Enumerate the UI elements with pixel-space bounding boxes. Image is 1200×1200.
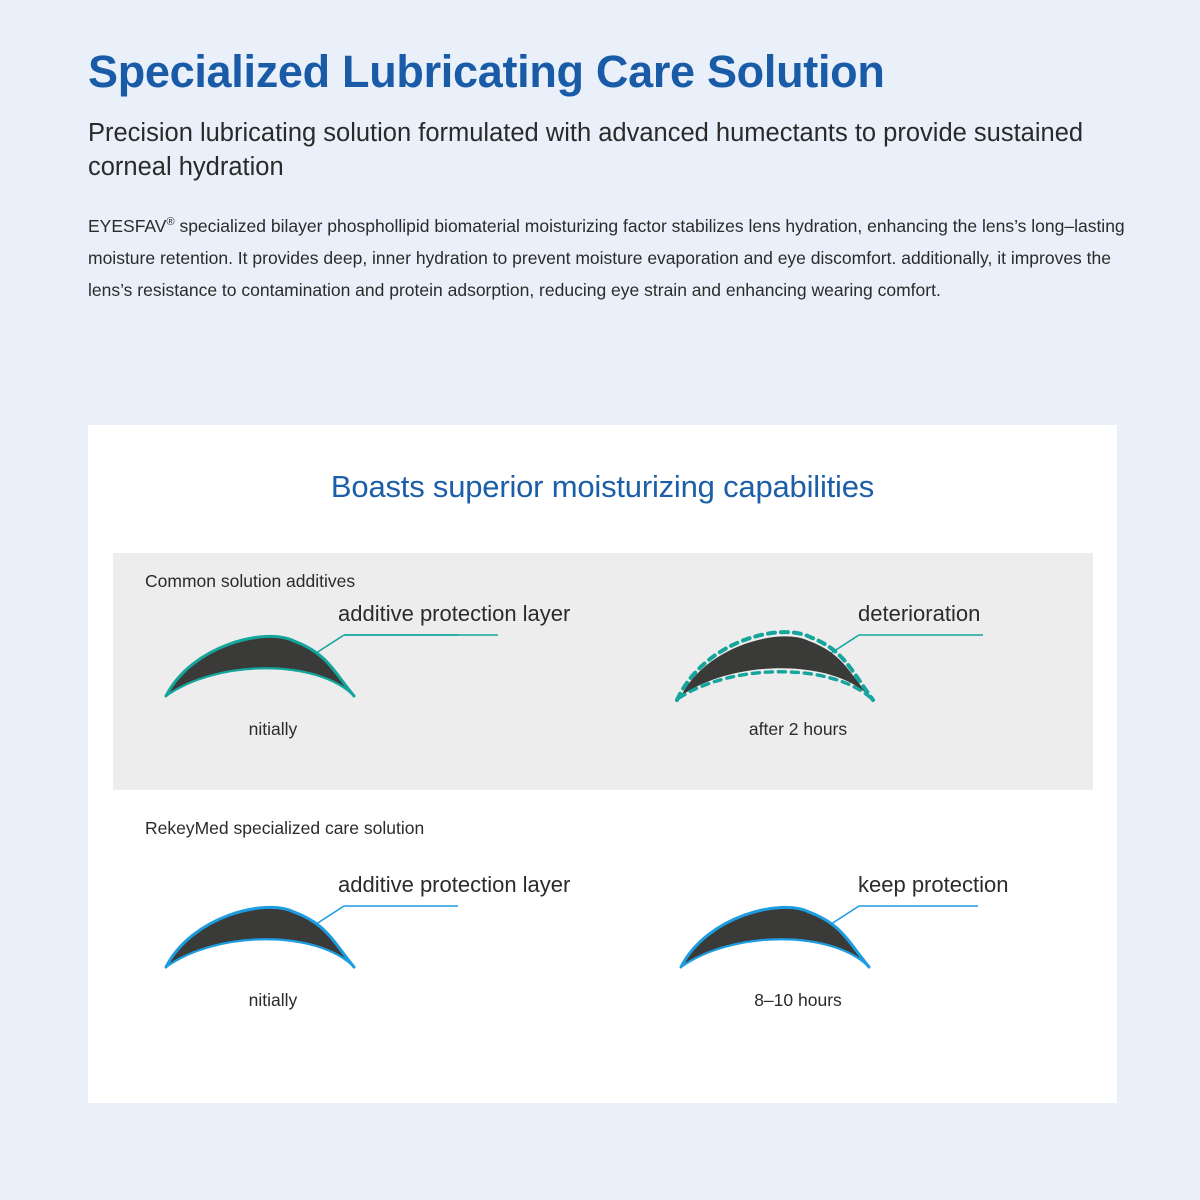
- specimen-caption: 8–10 hours: [683, 990, 913, 1011]
- specimen-caption: nitially: [158, 719, 388, 740]
- lens-figure: keep protection 8–10 hours: [673, 872, 1113, 992]
- page-subtitle: Precision lubricating solution formulate…: [88, 116, 1148, 184]
- comparison-card: Boasts superior moisturizing capabilitie…: [88, 425, 1117, 1103]
- specimen-caption: after 2 hours: [683, 719, 913, 740]
- specimen-group-rekeymed: additive protection layer nitially keep …: [113, 810, 1093, 1070]
- lens-body: [166, 636, 354, 696]
- specimen-common-deteriorated: deterioration after 2 hours: [673, 601, 1113, 721]
- registered-trademark-icon: ®: [166, 216, 174, 228]
- callout-label: deterioration: [858, 601, 980, 627]
- specimen-rekeymed-sustained: keep protection 8–10 hours: [673, 872, 1113, 992]
- lens-figure: additive protection layer nitially: [158, 872, 598, 992]
- comparison-row-rekeymed: RekeyMed specialized care solution addit…: [113, 810, 1093, 1070]
- specimen-group-common: additive protection layer nitially deter: [113, 553, 1093, 790]
- page-title: Specialized Lubricating Care Solution: [88, 46, 1158, 98]
- lens-body: [681, 907, 869, 967]
- callout-label: additive protection layer: [338, 601, 570, 627]
- description-text: specialized bilayer phosphollipid biomat…: [88, 216, 1125, 300]
- specimen-rekeymed-initial: additive protection layer nitially: [158, 872, 598, 992]
- specimen-common-initial: additive protection layer nitially: [158, 601, 598, 721]
- page-description: EYESFAV® specialized bilayer phosphollip…: [88, 210, 1133, 306]
- lens-body: [166, 907, 354, 967]
- comparison-row-common: Common solution additives: [113, 553, 1093, 790]
- lens-figure: deterioration after 2 hours: [673, 601, 1113, 721]
- brand-name: EYESFAV: [88, 216, 166, 236]
- callout-label: keep protection: [858, 872, 1008, 898]
- lens-figure: additive protection layer nitially: [158, 601, 598, 721]
- card-heading: Boasts superior moisturizing capabilitie…: [88, 425, 1117, 505]
- page-header: Specialized Lubricating Care Solution Pr…: [88, 46, 1158, 306]
- callout-label: additive protection layer: [338, 872, 570, 898]
- lens-body: [681, 636, 869, 696]
- specimen-caption: nitially: [158, 990, 388, 1011]
